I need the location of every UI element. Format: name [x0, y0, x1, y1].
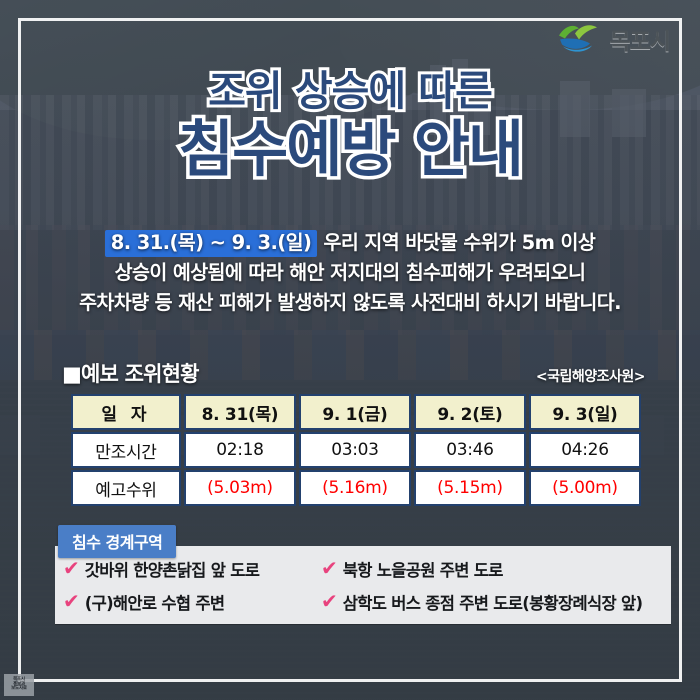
headline-block: 조위 상승에 따른 침수예방 안내 [0, 70, 700, 185]
source-watermark: 목포시 홍보과 보도자료 [4, 674, 34, 696]
city-logo-text: 목포시 [610, 22, 670, 56]
cell-forecast-level-1: (5.16m) [299, 470, 411, 506]
table-header-cell-4: 9. 3(일) [529, 394, 641, 430]
table-header-row: 일 자 8. 31(목) 9. 1(금) 9. 2(토) 9. 3(일) [71, 394, 641, 430]
city-emblem-icon [557, 22, 603, 56]
zone-item-label: 갓바위 한양촌닭집 앞 도로 [85, 557, 259, 581]
intro-line-1-rest: 우리 지역 바닷물 수위가 5m 이상 [323, 231, 595, 254]
headline-line-2: 침수예방 안내 [0, 115, 700, 185]
cell-forecast-level-0: (5.03m) [184, 470, 296, 506]
table-row: 예고수위 (5.03m) (5.16m) (5.15m) (5.00m) [71, 470, 641, 506]
row-label-forecast-level: 예고수위 [71, 470, 181, 506]
warning-zone-row: ✔ 갓바위 한양촌닭집 앞 도로 ✔ 북항 노을공원 주변 도로 [63, 552, 671, 585]
table-header-cell-0: 일 자 [71, 394, 181, 430]
list-item: ✔ (구)해안로 수협 주변 [63, 590, 321, 614]
intro-line-2: 상승이 예상됨에 따라 해안 저지대의 침수피해가 우려되오니 [30, 258, 670, 288]
cell-high-tide-2: 03:46 [414, 432, 526, 468]
warning-zone-list: ✔ 갓바위 한양촌닭집 앞 도로 ✔ 북항 노을공원 주변 도로 ✔ (구)해안… [55, 548, 671, 618]
list-item: ✔ 북항 노을공원 주변 도로 [321, 557, 579, 581]
check-icon: ✔ [63, 558, 80, 578]
cell-high-tide-3: 04:26 [529, 432, 641, 468]
headline-line-1: 조위 상승에 따른 [0, 70, 700, 113]
intro-line-1: 8. 31.(목) ~ 9. 3.(일) 우리 지역 바닷물 수위가 5m 이상 [30, 228, 670, 258]
table-header-cell-2: 9. 1(금) [299, 394, 411, 430]
mokpo-city-logo: 목포시 [557, 22, 670, 56]
watermark-line-3: 보도자료 [11, 687, 27, 692]
intro-paragraph: 8. 31.(목) ~ 9. 3.(일) 우리 지역 바닷물 수위가 5m 이상… [30, 228, 670, 319]
row-label-high-tide-time: 만조시간 [71, 432, 181, 468]
cell-forecast-level-3: (5.00m) [529, 470, 641, 506]
zone-item-label: (구)해안로 수협 주변 [85, 590, 225, 614]
section-source: <국립해양조사원> [536, 366, 645, 388]
check-icon: ✔ [63, 591, 80, 611]
table-header-cell-1: 8. 31(목) [184, 394, 296, 430]
list-item: ✔ 삼학도 버스 종점 주변 도로(봉황장례식장 앞) [321, 590, 579, 614]
date-range-highlight: 8. 31.(목) ~ 9. 3.(일) [105, 230, 318, 257]
tide-forecast-table: 일 자 8. 31(목) 9. 1(금) 9. 2(토) 9. 3(일) 만조시… [68, 392, 644, 508]
cell-high-tide-0: 02:18 [184, 432, 296, 468]
zone-item-label: 삼학도 버스 종점 주변 도로(봉황장례식장 앞) [343, 590, 643, 614]
table-header-cell-3: 9. 2(토) [414, 394, 526, 430]
warning-zone-row: ✔ (구)해안로 수협 주변 ✔ 삼학도 버스 종점 주변 도로(봉황장례식장 … [63, 585, 671, 618]
section-heading: ■예보 조위현황 <국립해양조사원> [62, 358, 645, 388]
cell-forecast-level-2: (5.15m) [414, 470, 526, 506]
poster-root: 목포시 조위 상승에 따른 침수예방 안내 8. 31.(목) ~ 9. 3.(… [0, 0, 700, 700]
list-item: ✔ 갓바위 한양촌닭집 앞 도로 [63, 557, 321, 581]
intro-line-3: 주차차량 등 재산 피해가 발생하지 않도록 사전대비 하시기 바랍니다. [30, 288, 670, 318]
check-icon: ✔ [321, 558, 338, 578]
section-title: ■예보 조위현황 [62, 358, 199, 388]
cell-high-tide-1: 03:03 [299, 432, 411, 468]
table-row: 만조시간 02:18 03:03 03:46 04:26 [71, 432, 641, 468]
zone-item-label: 북항 노을공원 주변 도로 [343, 557, 503, 581]
check-icon: ✔ [321, 591, 338, 611]
